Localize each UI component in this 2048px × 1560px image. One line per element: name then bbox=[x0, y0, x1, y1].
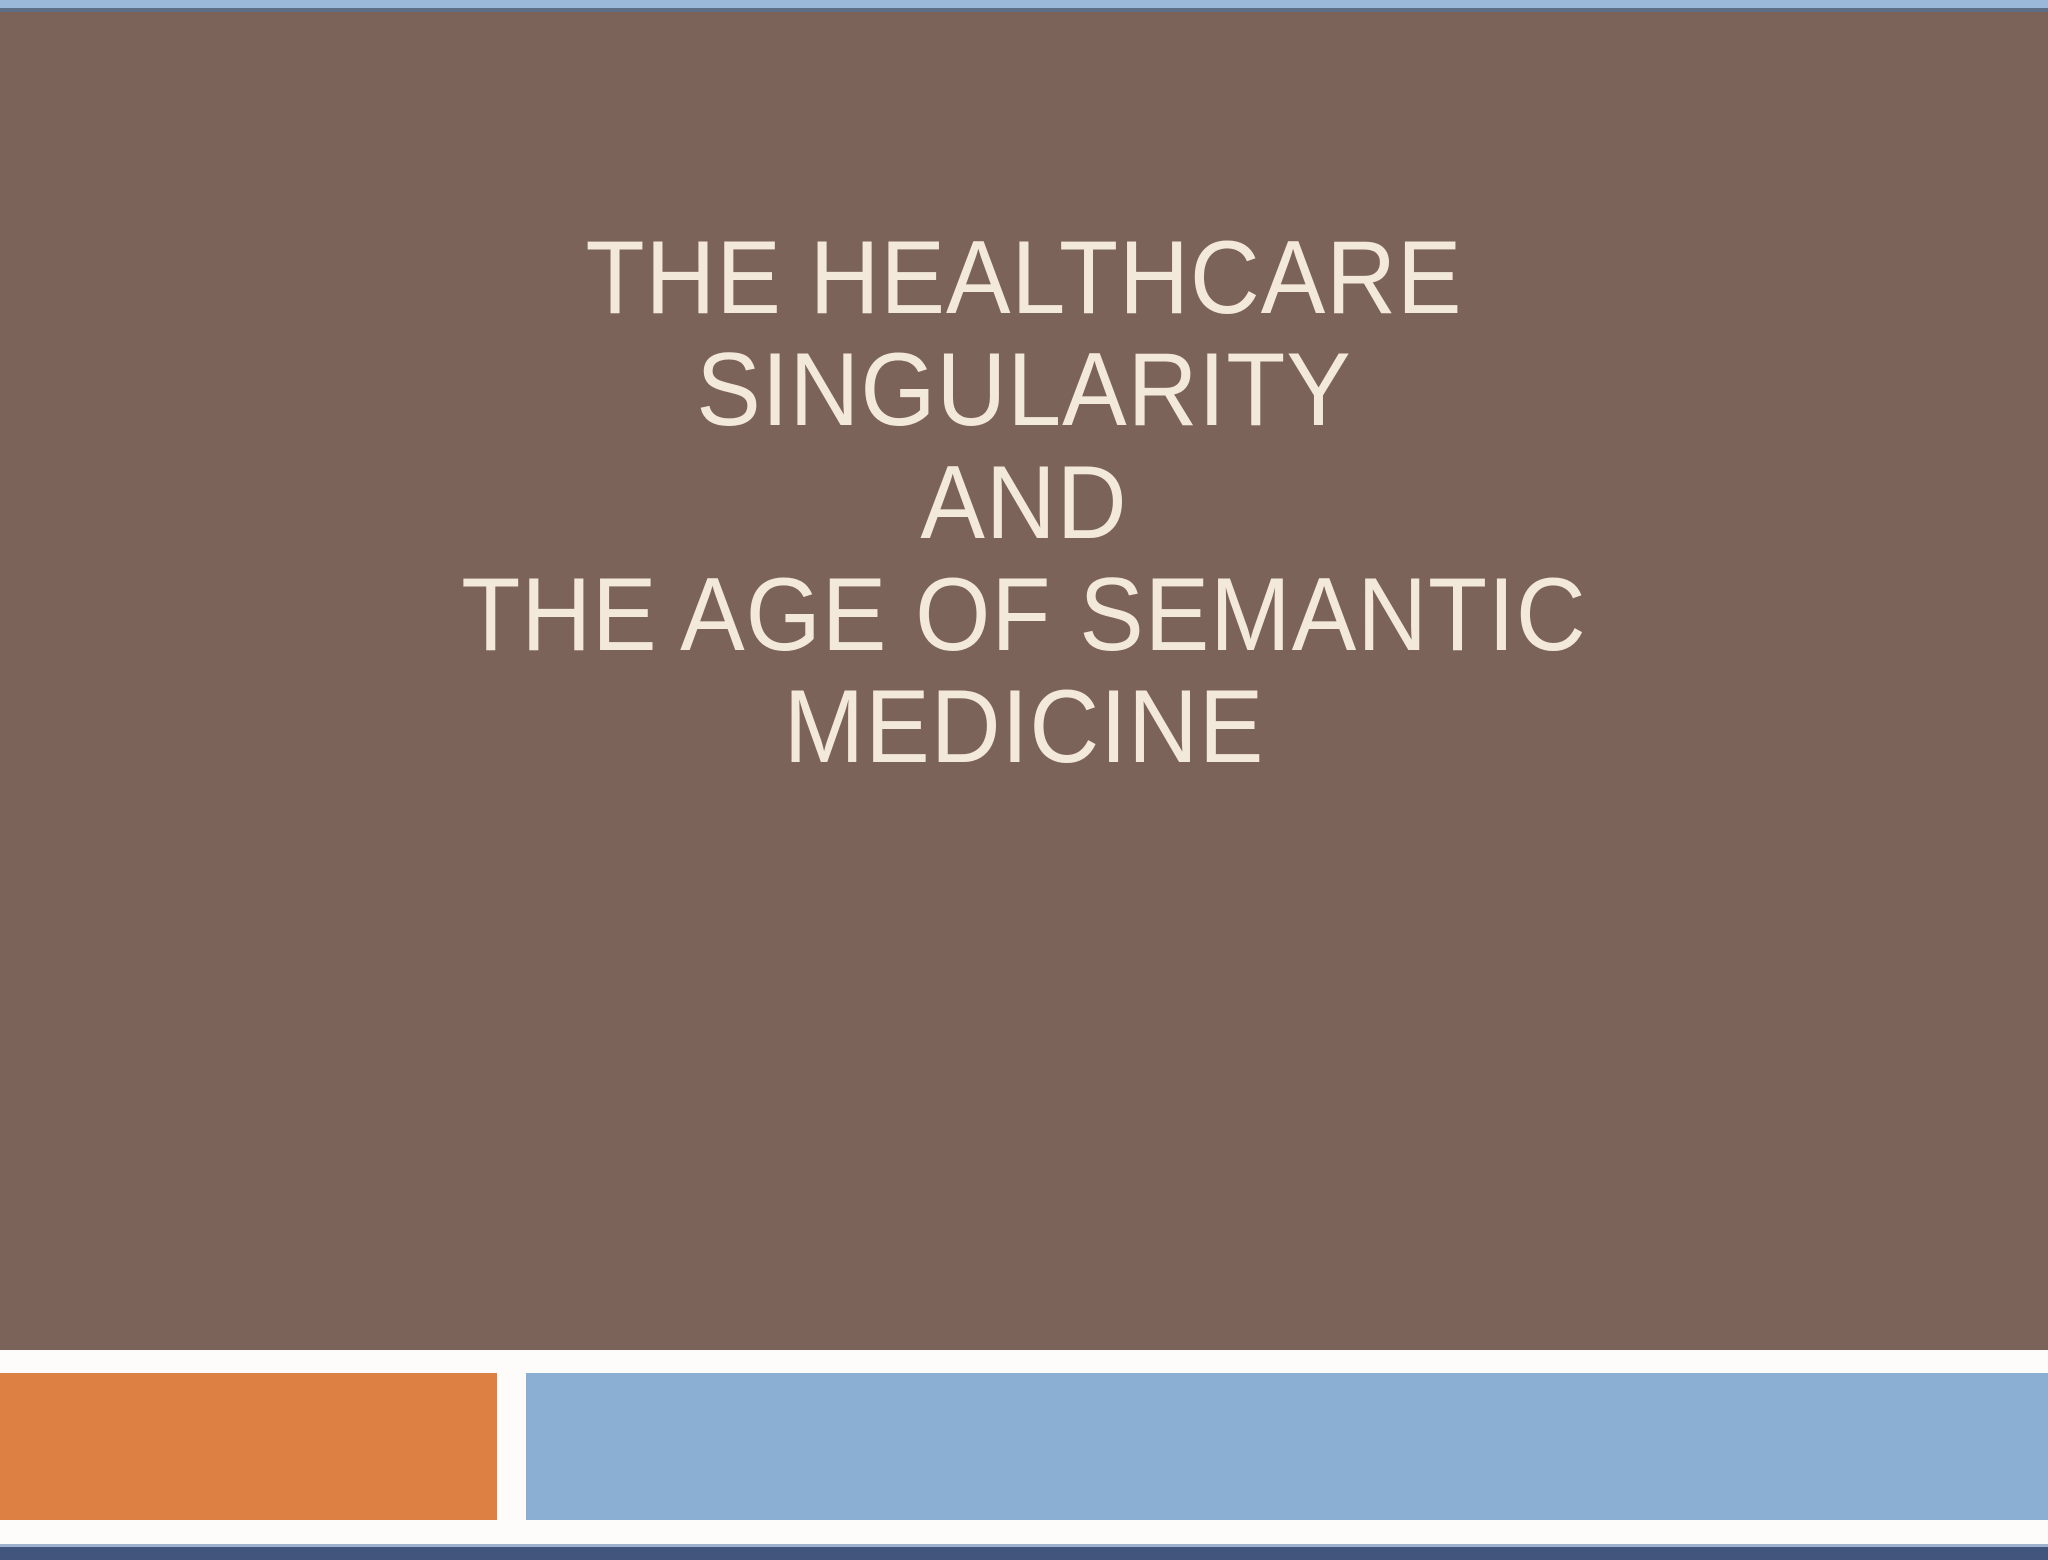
top-accent-strip bbox=[0, 0, 2048, 8]
blue-accent-bar bbox=[526, 1373, 2048, 1520]
bottom-accent-rule bbox=[0, 1547, 2048, 1560]
title-line-3: AND bbox=[410, 447, 1638, 559]
title-line-4: THE AGE OF SEMANTIC bbox=[410, 559, 1638, 671]
slide-title: THE HEALTHCARE SINGULARITY AND THE AGE O… bbox=[364, 222, 1684, 784]
title-line-5: MEDICINE bbox=[410, 671, 1638, 783]
orange-accent-bar bbox=[0, 1373, 497, 1520]
title-slide: THE HEALTHCARE SINGULARITY AND THE AGE O… bbox=[0, 0, 2048, 1560]
title-line-2: SINGULARITY bbox=[410, 334, 1638, 446]
title-line-1: THE HEALTHCARE bbox=[410, 222, 1638, 334]
slide-body-panel: THE HEALTHCARE SINGULARITY AND THE AGE O… bbox=[0, 12, 2048, 1350]
bottom-decoration-band bbox=[0, 1350, 2048, 1560]
